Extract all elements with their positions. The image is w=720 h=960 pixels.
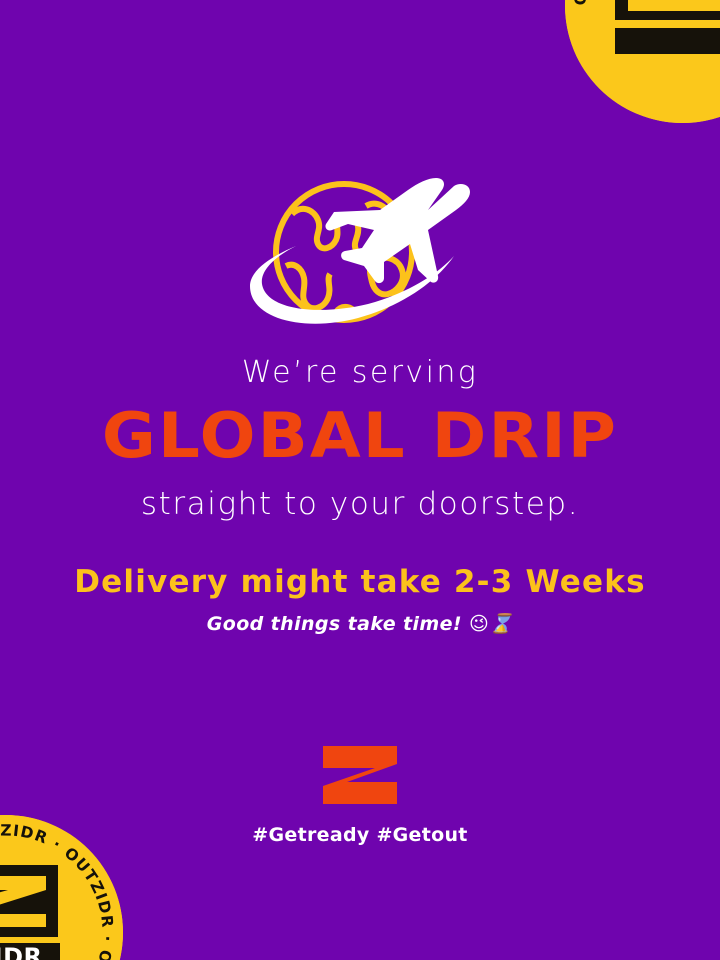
outzidr-stamp-top-right: OUTZIDR · OUTZIDR · OUTZIDR · OUTZIDR ·	[565, 0, 720, 123]
outzidr-z-logo-icon	[319, 744, 401, 806]
hashtags: #Getready #Getout	[0, 824, 720, 846]
globe-plane-artwork	[232, 170, 488, 342]
poster-canvas: OUTZIDR · OUTZIDR · OUTZIDR · OUTZIDR · …	[0, 0, 720, 960]
delivery-notice: Delivery might take 2-3 Weeks	[0, 567, 720, 598]
footer-block: #Getready #Getout	[0, 744, 720, 846]
outzidr-inner-mark: OUTZIDR	[0, 865, 60, 960]
copy-block: We’re serving GLOBAL DRIP straight to yo…	[0, 358, 720, 634]
page-title: GLOBAL DRIP	[0, 405, 720, 467]
subhead-straight: straight to your doorstep.	[0, 489, 720, 520]
subhead-serving: We’re serving	[0, 358, 720, 388]
badge-wordmark: OUTZIDR	[0, 943, 43, 960]
tagline: Good things take time! 😉⌛	[0, 615, 720, 634]
